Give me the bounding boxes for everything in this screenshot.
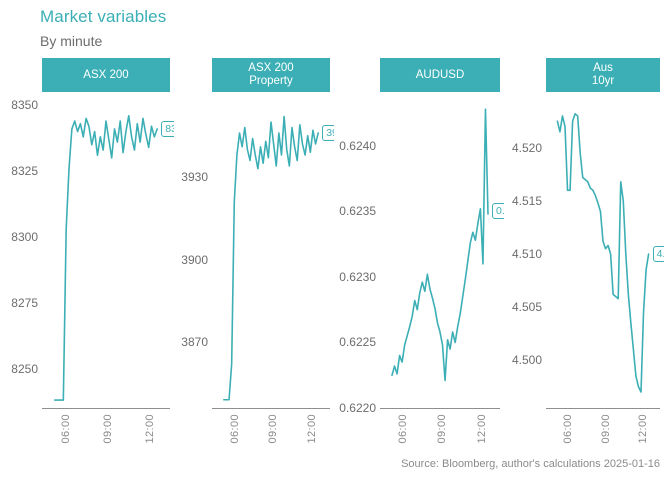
value-label-clip: 4.510 bbox=[546, 90, 664, 410]
chart-root: Market variables By minute ASX 200835083… bbox=[0, 0, 672, 480]
source-note: Source: Bloomberg, author's calculations… bbox=[401, 458, 660, 470]
last-value-label: 4.510 bbox=[653, 246, 664, 262]
panel-aus-10yr: Aus 10yr4.5204.5154.5104.5054.50006:0009… bbox=[0, 0, 672, 480]
